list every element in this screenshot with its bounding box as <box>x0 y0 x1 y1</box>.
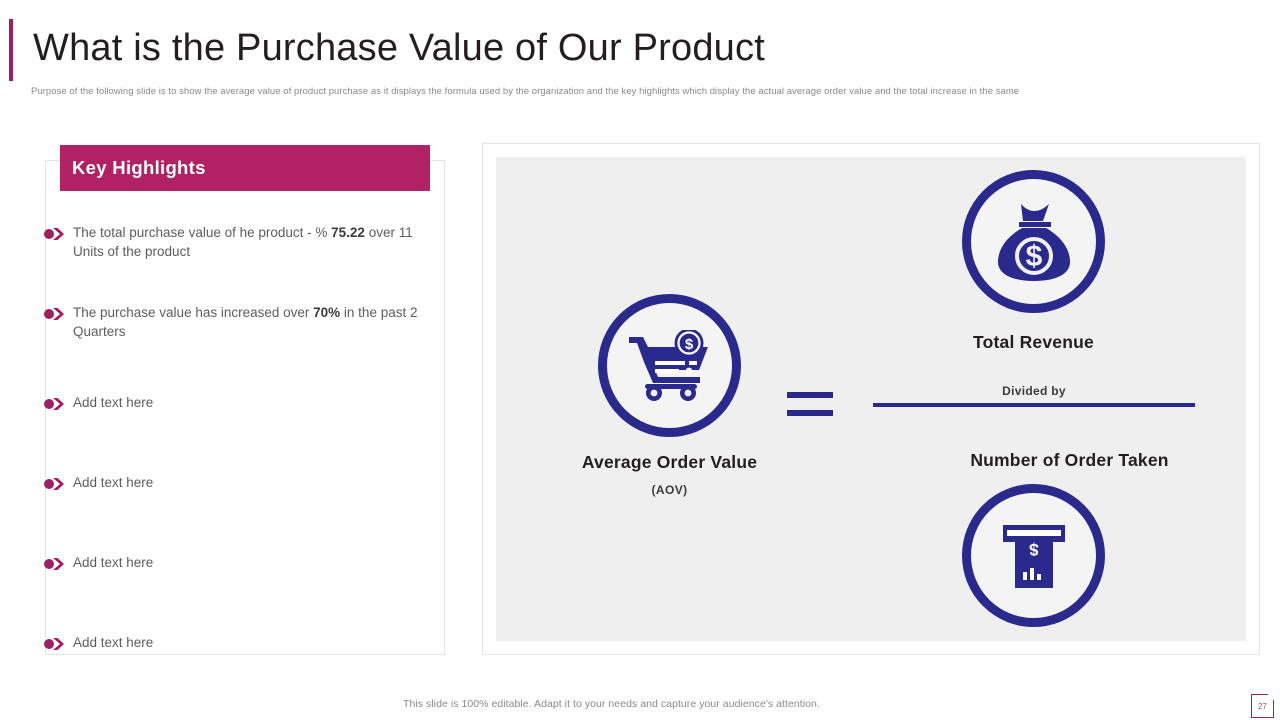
key-highlight-text: Add text here <box>65 553 445 572</box>
key-highlight-text: Add text here <box>65 393 445 412</box>
svg-text:$: $ <box>1028 540 1038 559</box>
chevron-right-icon <box>51 397 65 411</box>
key-highlight-text: The total purchase value of he product -… <box>65 223 445 261</box>
footer-note: This slide is 100% editable. Adapt it to… <box>403 698 820 710</box>
chevron-right-icon <box>51 477 65 491</box>
bullet-arrow-icon <box>35 475 65 493</box>
bullet-arrow-icon <box>35 635 65 653</box>
key-highlights-list: The total purchase value of he product -… <box>45 205 445 655</box>
key-highlight-text: Add text here <box>65 633 445 652</box>
division-line <box>873 403 1195 407</box>
money-bag-icon: $ <box>962 170 1105 313</box>
key-highlights-title: Key Highlights <box>72 157 206 179</box>
page-title: What is the Purchase Value of Our Produc… <box>33 22 765 74</box>
key-highlight-item[interactable]: The purchase value has increased over 70… <box>45 303 445 341</box>
page-number-badge: 27 <box>1251 694 1274 718</box>
key-highlight-item[interactable]: Add text here <box>45 633 445 653</box>
atm-cash-glyph: $ <box>995 517 1073 595</box>
key-highlight-item[interactable]: Add text here <box>45 393 445 413</box>
bullet-arrow-icon <box>35 305 65 323</box>
divided-by-label: Divided by <box>873 384 1195 398</box>
equals-sign-icon <box>787 392 833 418</box>
key-highlight-item[interactable]: Add text here <box>45 473 445 493</box>
key-highlight-text: The purchase value has increased over 70… <box>65 303 445 341</box>
page-subtitle: Purpose of the following slide is to sho… <box>31 84 1205 99</box>
chevron-right-icon <box>51 637 65 651</box>
key-highlight-item[interactable]: The total purchase value of he product -… <box>45 223 445 261</box>
chevron-right-icon <box>51 307 65 321</box>
money-bag-glyph: $ <box>994 201 1074 283</box>
atm-cash-dispenser-icon: $ <box>962 484 1105 627</box>
title-accent-bar <box>9 19 13 81</box>
chevron-right-icon <box>51 557 65 571</box>
total-revenue-label: Total Revenue <box>912 332 1155 353</box>
bullet-arrow-icon <box>35 225 65 243</box>
bullet-arrow-icon <box>35 395 65 413</box>
svg-text:$: $ <box>684 336 693 353</box>
bullet-arrow-icon <box>35 555 65 573</box>
shopping-cart-dollar-icon: $ <box>598 294 741 437</box>
page-number: 27 <box>1258 702 1267 711</box>
chevron-right-icon <box>51 227 65 241</box>
shopping-cart-dollar-glyph: $ <box>627 330 713 402</box>
aov-sub-label: (AOV) <box>548 483 791 497</box>
key-highlights-header: Key Highlights <box>60 145 430 191</box>
number-of-orders-label: Number of Order Taken <box>912 450 1227 471</box>
key-highlight-item[interactable]: Add text here <box>45 553 445 573</box>
slide: What is the Purchase Value of Our Produc… <box>0 0 1280 720</box>
aov-label: Average Order Value <box>548 452 791 473</box>
key-highlight-text: Add text here <box>65 473 445 492</box>
svg-text:$: $ <box>1025 240 1042 273</box>
